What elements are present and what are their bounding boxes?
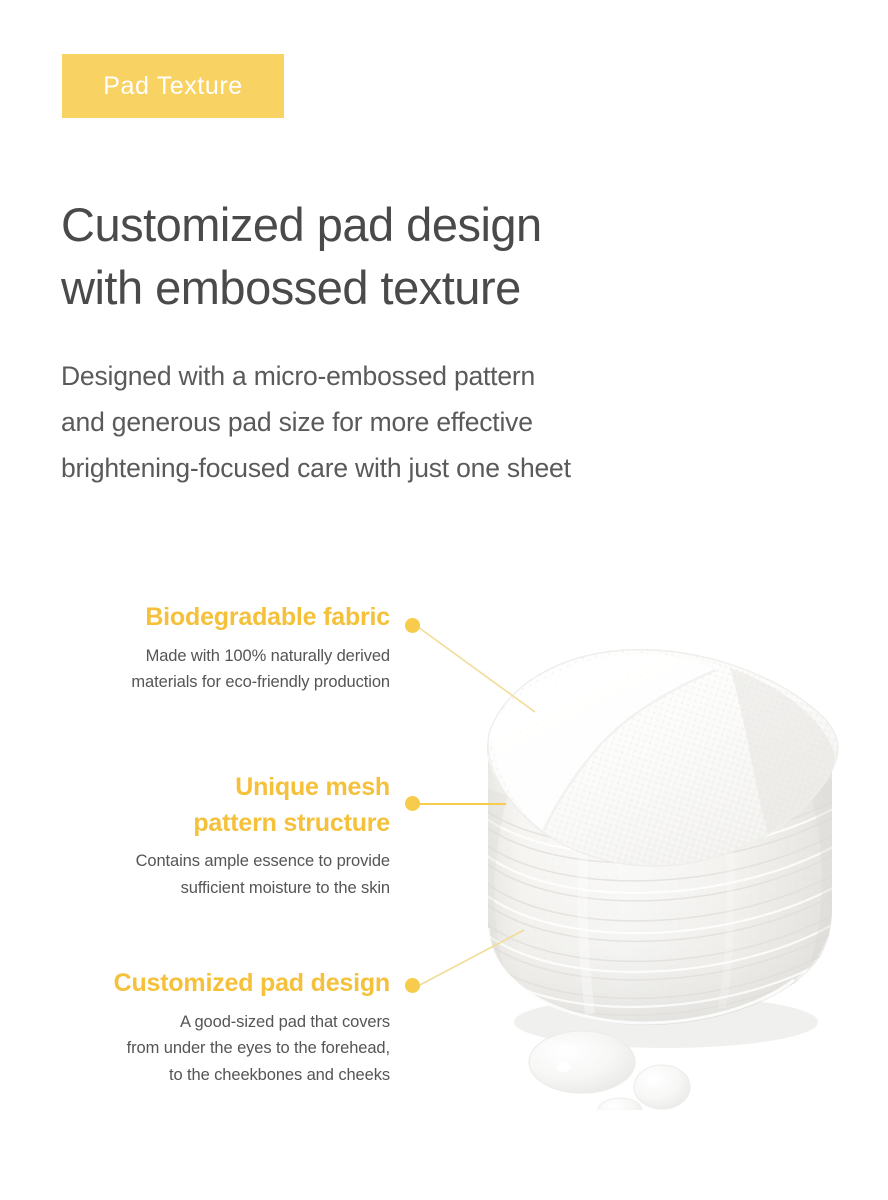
callout-desc-line: to the cheekbones and cheeks — [20, 1062, 390, 1089]
callout-dot-1 — [405, 618, 420, 633]
callout-desc-line: materials for eco-friendly production — [20, 669, 390, 696]
callout-desc-line: sufficient moisture to the skin — [20, 875, 390, 902]
callout-biodegradable-fabric: Biodegradable fabric Made with 100% natu… — [20, 600, 390, 696]
callout-desc-line: Contains ample essence to provide — [20, 848, 390, 875]
callout-customized-pad-design: Customized pad design A good-sized pad t… — [20, 966, 390, 1089]
callout-dot-3 — [405, 978, 420, 993]
callout-list: Biodegradable fabric Made with 100% natu… — [0, 0, 888, 1200]
callout-title-line: Unique mesh — [20, 770, 390, 806]
callout-title: Biodegradable fabric — [20, 600, 390, 636]
callout-title-line: pattern structure — [20, 806, 390, 842]
callout-description: A good-sized pad that covers from under … — [20, 1009, 390, 1089]
callout-description: Contains ample essence to provide suffic… — [20, 848, 390, 901]
callout-unique-mesh-pattern-structure: Unique mesh pattern structure Contains a… — [20, 770, 390, 901]
callout-desc-line: A good-sized pad that covers — [20, 1009, 390, 1036]
callout-dot-2 — [405, 796, 420, 811]
callout-title: Unique mesh pattern structure — [20, 770, 390, 841]
callout-title-line: Biodegradable fabric — [20, 600, 390, 636]
callout-desc-line: Made with 100% naturally derived — [20, 643, 390, 670]
callout-title-line: Customized pad design — [20, 966, 390, 1002]
callout-title: Customized pad design — [20, 966, 390, 1002]
callout-desc-line: from under the eyes to the forehead, — [20, 1035, 390, 1062]
callout-description: Made with 100% naturally derived materia… — [20, 643, 390, 696]
